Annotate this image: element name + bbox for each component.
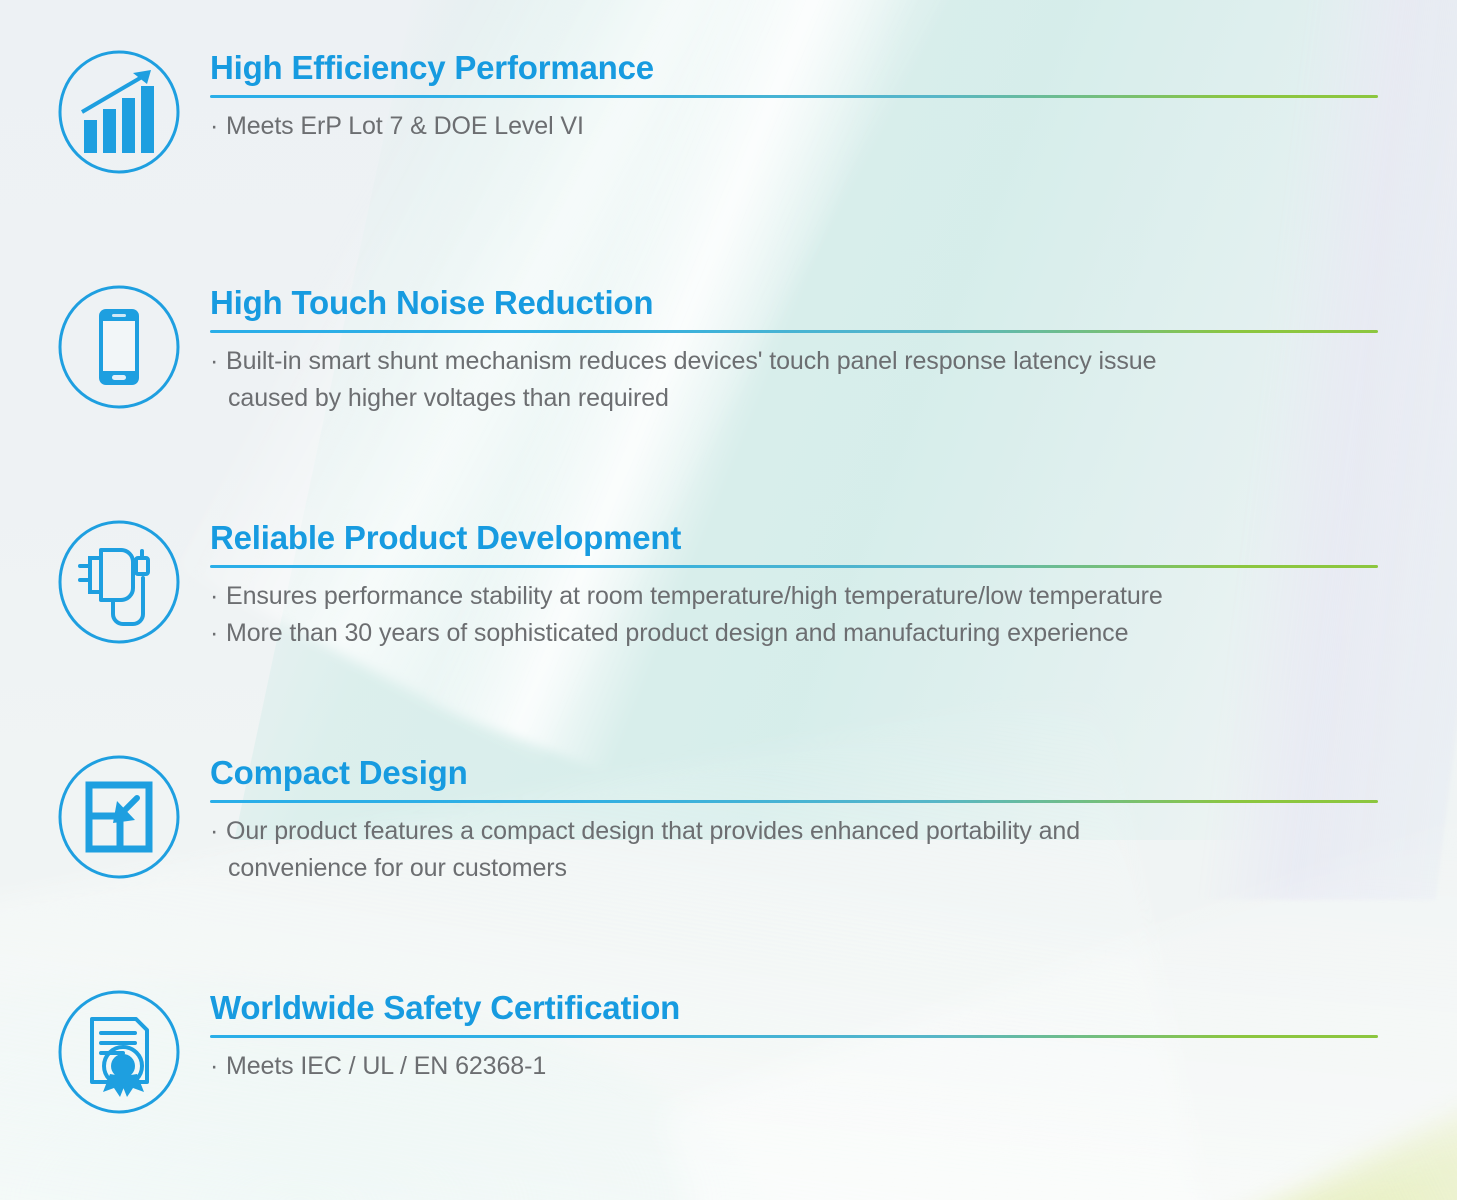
bullet-text: Meets IEC / UL / EN 62368-1 xyxy=(226,1052,546,1080)
bullet-marker: · xyxy=(210,615,226,652)
feature-divider xyxy=(210,1035,1378,1038)
bullet-line: ·Meets IEC / UL / EN 62368-1 xyxy=(210,1048,1378,1085)
feature-body: High Touch Noise Reduction ·Built-in sma… xyxy=(210,283,1378,417)
bullet-text: More than 30 years of sophisticated prod… xyxy=(226,619,1128,647)
certificate-award-icon xyxy=(55,988,183,1116)
feature-divider xyxy=(210,95,1378,98)
bullet-line: ·Our product features a compact design t… xyxy=(210,813,1378,850)
bullet-line-continuation: convenience for our customers xyxy=(210,850,1378,887)
feature-body: Worldwide Safety Certification ·Meets IE… xyxy=(210,988,1378,1085)
bullet-marker: · xyxy=(210,578,226,615)
feature-bullets: ·Our product features a compact design t… xyxy=(210,813,1378,887)
growth-bar-chart-icon xyxy=(55,48,183,176)
feature-bullets: ·Built-in smart shunt mechanism reduces … xyxy=(210,343,1378,417)
bullet-text: convenience for our customers xyxy=(210,850,567,887)
feature-title: Reliable Product Development xyxy=(210,518,1378,558)
smartphone-icon xyxy=(55,283,183,411)
feature-title: High Efficiency Performance xyxy=(210,48,1378,88)
feature-divider xyxy=(210,800,1378,803)
feature-title: High Touch Noise Reduction xyxy=(210,283,1378,323)
feature-bullets: ·Meets IEC / UL / EN 62368-1 xyxy=(210,1048,1378,1085)
feature-title: Worldwide Safety Certification xyxy=(210,988,1378,1028)
bullet-line: ·Ensures performance stability at room t… xyxy=(210,578,1378,615)
bullet-marker: · xyxy=(210,1048,226,1085)
bullet-text: Our product features a compact design th… xyxy=(226,817,1080,845)
feature-list: High Efficiency Performance ·Meets ErP L… xyxy=(0,0,1457,1200)
bullet-line: ·More than 30 years of sophisticated pro… xyxy=(210,615,1378,652)
feature-body: Compact Design ·Our product features a c… xyxy=(210,753,1378,887)
bullet-line-continuation: caused by higher voltages than required xyxy=(210,380,1378,417)
bullet-text: caused by higher voltages than required xyxy=(210,380,669,417)
feature-bullets: ·Ensures performance stability at room t… xyxy=(210,578,1378,652)
bullet-text: Meets ErP Lot 7 & DOE Level VI xyxy=(226,112,584,140)
power-adapter-icon xyxy=(55,518,183,646)
bullet-marker: · xyxy=(210,813,226,850)
bullet-text: Built-in smart shunt mechanism reduces d… xyxy=(226,347,1156,375)
bullet-line: ·Built-in smart shunt mechanism reduces … xyxy=(210,343,1378,380)
bullet-marker: · xyxy=(210,343,226,380)
feature-bullets: ·Meets ErP Lot 7 & DOE Level VI xyxy=(210,108,1378,145)
bullet-text: Ensures performance stability at room te… xyxy=(226,582,1163,610)
feature-title: Compact Design xyxy=(210,753,1378,793)
feature-divider xyxy=(210,565,1378,568)
feature-body: High Efficiency Performance ·Meets ErP L… xyxy=(210,48,1378,145)
feature-highlights-page: High Efficiency Performance ·Meets ErP L… xyxy=(0,0,1457,1200)
bullet-line: ·Meets ErP Lot 7 & DOE Level VI xyxy=(210,108,1378,145)
feature-divider xyxy=(210,330,1378,333)
feature-body: Reliable Product Development ·Ensures pe… xyxy=(210,518,1378,652)
compact-resize-icon xyxy=(55,753,183,881)
bullet-marker: · xyxy=(210,108,226,145)
